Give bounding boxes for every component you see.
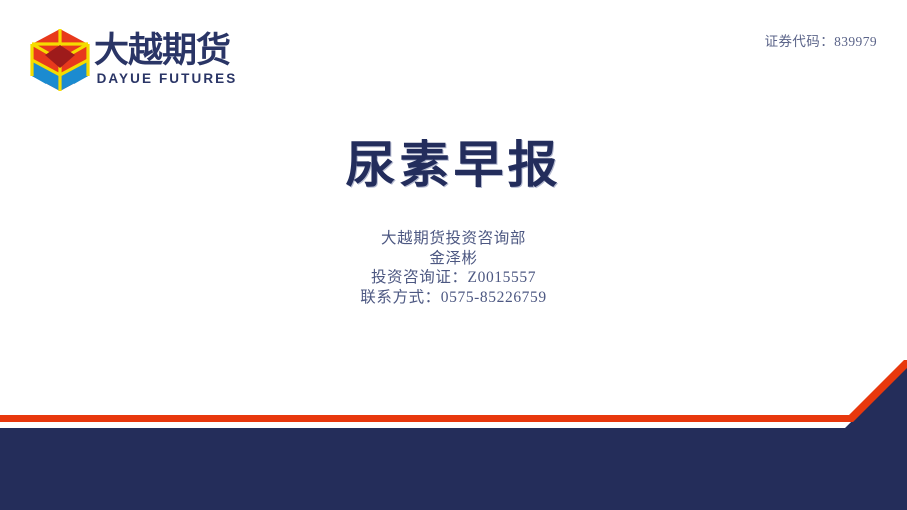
brand-logo: 大越期货 DAYUE FUTURES: [30, 26, 240, 94]
svg-text:大越期货: 大越期货: [94, 31, 230, 71]
brand-name-en: DAYUE FUTURES: [94, 71, 240, 87]
byline-author: 金泽彬: [0, 249, 907, 269]
brand-wordmark: 大越期货 DAYUE FUTURES: [94, 26, 240, 92]
title-slide: 大越期货 DAYUE FUTURES 证券代码：839979 尿素早报 大越期货…: [0, 0, 907, 510]
dayue-cube-logo-icon: [30, 28, 90, 92]
page-title: 尿素早报: [0, 134, 907, 196]
byline-contact: 联系方式：0575-85226759: [0, 288, 907, 308]
byline-department: 大越期货投资咨询部: [0, 229, 907, 249]
footer-navy-band: [0, 367, 907, 510]
footer-orange-accent: [0, 360, 907, 422]
securities-code: 证券代码：839979: [765, 30, 877, 50]
brand-name-cn: 大越期货: [94, 29, 240, 71]
footer-decoration: [0, 360, 907, 510]
byline-block: 大越期货投资咨询部 金泽彬 投资咨询证：Z0015557 联系方式：0575-8…: [0, 229, 907, 307]
byline-license: 投资咨询证：Z0015557: [0, 268, 907, 288]
